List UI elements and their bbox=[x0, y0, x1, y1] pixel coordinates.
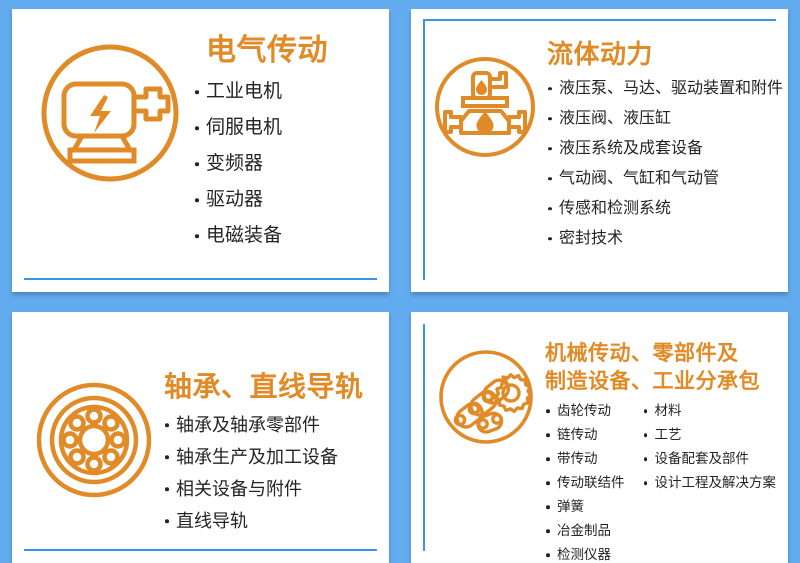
list-item: 齿轮传动 bbox=[545, 399, 625, 423]
list-item: 液压泵、马达、驱动装置和附件 bbox=[547, 74, 780, 104]
list-item: 相关设备与附件 bbox=[164, 473, 379, 505]
category-card-bearings[interactable]: 轴承、直线导轨 轴承及轴承零部件 轴承生产及加工设备 相关设备与附件 直线导轨 bbox=[12, 312, 389, 563]
list-item: 弹簧 bbox=[545, 495, 625, 519]
card-bullet-list-column-2: 材料 工艺 设备配套及部件 设计工程及解决方案 bbox=[643, 399, 777, 563]
list-item: 设计工程及解决方案 bbox=[643, 471, 777, 495]
card-accent-line-left bbox=[423, 324, 425, 551]
chain-gear-icon bbox=[433, 344, 539, 450]
card-title: 机械传动、零部件及 制造设备、工业分承包 bbox=[545, 340, 782, 395]
list-item: 密封技术 bbox=[547, 224, 780, 254]
list-item: 轴承及轴承零部件 bbox=[164, 409, 379, 441]
card-bullet-list: 液压泵、马达、驱动装置和附件 液压阀、液压缸 液压系统及成套设备 气动阀、气缸和… bbox=[547, 74, 780, 254]
electric-motor-icon bbox=[34, 37, 186, 189]
hydraulic-pump-valve-icon bbox=[429, 51, 541, 163]
category-card-mechanical-drive[interactable]: 机械传动、零部件及 制造设备、工业分承包 齿轮传动 链传动 带传动 传动联结件 … bbox=[411, 312, 788, 563]
list-item: 链传动 bbox=[545, 423, 625, 447]
list-item: 轴承生产及加工设备 bbox=[164, 441, 379, 473]
list-item: 带传动 bbox=[545, 447, 625, 471]
ball-bearing-icon bbox=[32, 378, 156, 502]
card-accent-line-left bbox=[423, 21, 425, 280]
category-card-grid: 电气传动 工业电机 伺服电机 变频器 驱动器 电磁装备 bbox=[0, 0, 800, 534]
list-item: 材料 bbox=[643, 399, 777, 423]
card-bullet-list: 工业电机 伺服电机 变频器 驱动器 电磁装备 bbox=[194, 74, 379, 254]
card-bullet-list: 轴承及轴承零部件 轴承生产及加工设备 相关设备与附件 直线导轨 bbox=[164, 409, 379, 537]
list-item: 伺服电机 bbox=[194, 110, 379, 146]
card-accent-line bbox=[24, 278, 377, 280]
list-item: 气动阀、气缸和气动管 bbox=[547, 164, 780, 194]
card-accent-line bbox=[24, 549, 377, 551]
card-bullet-list-column-1: 齿轮传动 链传动 带传动 传动联结件 弹簧 冶金制品 检测仪器 bbox=[545, 399, 625, 563]
list-item: 变频器 bbox=[194, 146, 379, 182]
list-item: 直线导轨 bbox=[164, 505, 379, 537]
list-item: 驱动器 bbox=[194, 182, 379, 218]
category-card-electric-drive[interactable]: 电气传动 工业电机 伺服电机 变频器 驱动器 电磁装备 bbox=[12, 9, 389, 292]
card-title: 流体动力 bbox=[547, 39, 780, 70]
list-item: 工业电机 bbox=[194, 74, 379, 110]
category-card-fluid-power[interactable]: 流体动力 液压泵、马达、驱动装置和附件 液压阀、液压缸 液压系统及成套设备 气动… bbox=[411, 9, 788, 292]
list-item: 传动联结件 bbox=[545, 471, 625, 495]
list-item: 工艺 bbox=[643, 423, 777, 447]
list-item: 冶金制品 bbox=[545, 519, 625, 543]
list-item: 设备配套及部件 bbox=[643, 447, 777, 471]
list-item: 液压阀、液压缸 bbox=[547, 104, 780, 134]
list-item: 电磁装备 bbox=[194, 218, 379, 254]
list-item: 液压系统及成套设备 bbox=[547, 134, 780, 164]
card-title: 电气传动 bbox=[206, 33, 379, 68]
list-item: 传感和检测系统 bbox=[547, 194, 780, 224]
card-title: 轴承、直线导轨 bbox=[164, 370, 379, 403]
list-item: 检测仪器 bbox=[545, 543, 625, 563]
card-accent-line-top bbox=[423, 19, 776, 21]
